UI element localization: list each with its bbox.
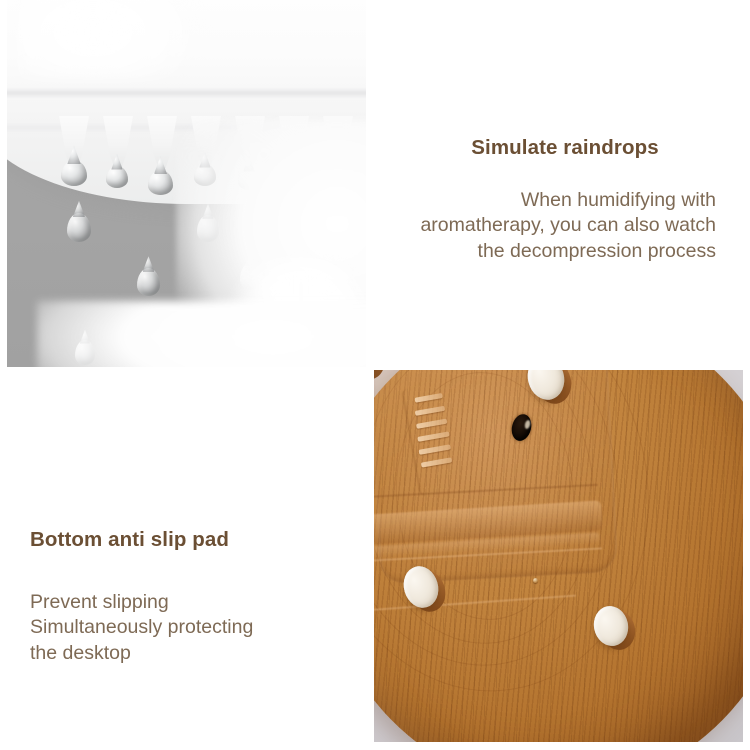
hanging-water-droplet [148, 170, 173, 195]
feature-body-line: Prevent slipping [30, 590, 360, 615]
falling-water-droplet [137, 268, 160, 296]
raindrops-photo [7, 0, 366, 367]
lid-specular-highlight [17, 0, 207, 80]
vent-slit [415, 406, 445, 416]
hanging-water-droplet [61, 160, 87, 186]
feature-heading-raindrops: Simulate raindrops [400, 136, 730, 160]
feature-text-raindrops: Simulate raindrops When humidifying with… [400, 136, 730, 264]
feature-body-line: the desktop [30, 641, 360, 666]
feature-text-antislip: Bottom anti slip pad Prevent slipping Si… [30, 528, 360, 666]
vent-slit [419, 444, 451, 454]
feature-body-antislip: Prevent slipping Simultaneously protecti… [30, 590, 360, 666]
wood-grain-disc [374, 370, 743, 742]
hanging-water-droplet [106, 166, 128, 188]
vent-slit [417, 431, 449, 441]
screw-dot [533, 578, 538, 583]
feature-body-line: Simultaneously protecting [30, 615, 360, 640]
feature-heading-antislip: Bottom anti slip pad [30, 528, 360, 552]
wood-base-photo [374, 370, 743, 742]
vent-slit [416, 419, 447, 429]
mist-cloud [37, 301, 366, 367]
product-feature-page: Simulate raindrops When humidifying with… [0, 0, 750, 750]
lid-seam-line [7, 88, 366, 98]
feature-body-raindrops: When humidifying with aromatherapy, you … [400, 188, 730, 264]
falling-water-droplet [67, 213, 91, 242]
vent-slit [421, 457, 452, 467]
